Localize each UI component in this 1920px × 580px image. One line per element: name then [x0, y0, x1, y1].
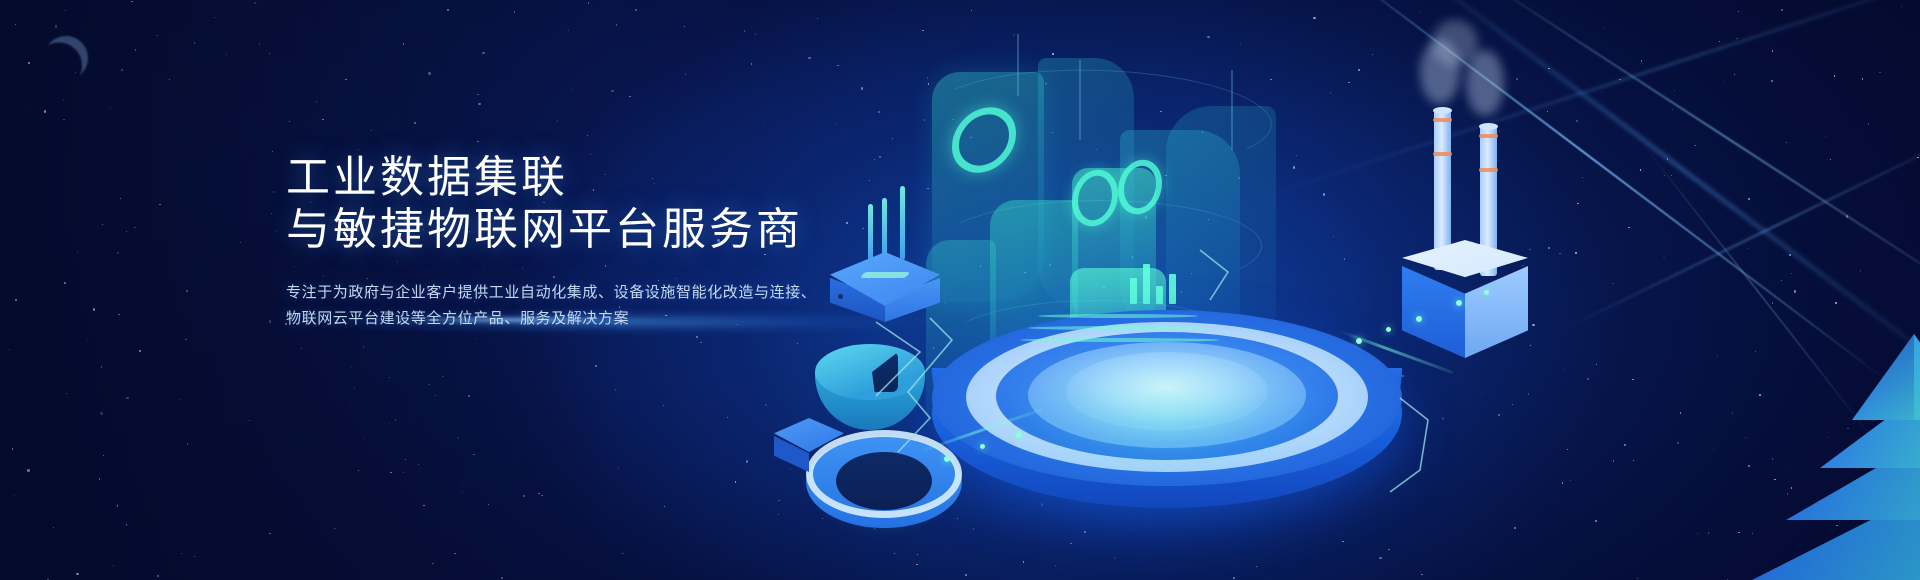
star [477, 141, 478, 142]
data-dot [1356, 338, 1362, 344]
isometric-illustration [780, 0, 1920, 580]
star [358, 149, 359, 150]
data-dot [1386, 327, 1391, 332]
star [44, 110, 46, 112]
star [94, 260, 95, 261]
star [103, 455, 104, 456]
star [744, 30, 745, 31]
star [12, 448, 13, 449]
star [14, 495, 15, 496]
star [462, 492, 463, 493]
star [364, 438, 365, 439]
star [126, 524, 127, 525]
star [428, 384, 429, 385]
star [99, 478, 100, 479]
star [28, 62, 29, 63]
star [120, 198, 121, 199]
star [488, 504, 489, 505]
star [405, 459, 406, 460]
star [473, 454, 474, 455]
star [664, 506, 665, 507]
star [194, 42, 195, 43]
star [87, 339, 88, 340]
star [110, 107, 111, 108]
star [316, 101, 317, 102]
star [63, 119, 64, 120]
star [538, 493, 539, 494]
star [275, 231, 276, 232]
star [15, 24, 16, 25]
star [363, 346, 364, 347]
star [595, 365, 596, 366]
star [102, 224, 103, 225]
star [370, 130, 371, 131]
star [27, 469, 29, 471]
star [358, 470, 359, 471]
star [93, 308, 95, 310]
star [395, 419, 396, 420]
star [134, 227, 135, 228]
star [301, 348, 302, 349]
cable-network [780, 0, 1920, 580]
star [418, 464, 419, 465]
star [589, 34, 590, 35]
star [194, 556, 195, 557]
star [126, 231, 127, 232]
star [259, 43, 260, 44]
star [616, 24, 617, 25]
star [187, 443, 188, 444]
star [482, 52, 484, 54]
star [289, 121, 290, 122]
star [454, 553, 455, 554]
star [447, 9, 448, 10]
star [622, 553, 623, 554]
star [462, 482, 463, 483]
star [351, 367, 352, 368]
star [478, 103, 480, 105]
data-dot [944, 456, 950, 462]
star [468, 395, 469, 396]
star [746, 460, 748, 462]
star [271, 213, 272, 214]
star [635, 9, 637, 11]
star [269, 53, 270, 54]
star [126, 397, 128, 399]
star [15, 299, 16, 300]
star [322, 119, 323, 120]
star [269, 533, 270, 534]
star [403, 472, 404, 473]
data-dot [1416, 316, 1422, 322]
star [403, 43, 404, 44]
star [727, 417, 728, 418]
star [55, 25, 57, 27]
star [118, 314, 119, 315]
star [435, 395, 436, 396]
star [240, 242, 241, 243]
star [77, 251, 78, 252]
star [117, 505, 118, 506]
star [611, 90, 613, 92]
star [29, 105, 30, 106]
star [143, 125, 144, 126]
star [618, 467, 619, 468]
star [523, 495, 524, 496]
hero-banner: 工业数据集联 与敏捷物联网平台服务商 专注于为政府与企业客户提供工业自动化集成、… [0, 0, 1920, 580]
star [345, 79, 346, 80]
star [501, 577, 502, 578]
star [390, 472, 391, 473]
star [389, 377, 390, 378]
star [389, 423, 390, 424]
star [157, 575, 159, 577]
data-dot [1016, 432, 1022, 438]
star [214, 17, 215, 18]
star [157, 35, 158, 36]
star [9, 349, 10, 350]
star [117, 252, 118, 253]
star [351, 406, 352, 407]
star [139, 350, 140, 351]
star [258, 1, 259, 2]
star [685, 74, 686, 75]
star [414, 122, 415, 123]
star [514, 11, 515, 12]
star [101, 366, 102, 367]
star [226, 54, 227, 55]
star [587, 135, 588, 136]
star [121, 69, 123, 71]
star [384, 148, 385, 149]
star [272, 151, 273, 152]
star [53, 527, 54, 528]
star [541, 495, 542, 496]
star [254, 2, 255, 3]
star [135, 49, 136, 50]
star [66, 393, 67, 394]
star [751, 63, 752, 64]
data-dot [1484, 290, 1489, 295]
star [615, 389, 616, 390]
star [272, 191, 274, 193]
star [571, 89, 572, 90]
star [684, 26, 685, 27]
data-dot [980, 444, 985, 449]
star [735, 481, 736, 482]
star [113, 565, 114, 566]
star [568, 30, 569, 31]
star [557, 120, 558, 121]
star [100, 412, 102, 414]
star [588, 2, 589, 3]
star [755, 33, 756, 34]
star [180, 399, 181, 400]
star [131, 1, 132, 2]
star [432, 563, 433, 564]
star [249, 420, 250, 421]
star [629, 96, 630, 97]
star [663, 405, 664, 406]
star [75, 72, 76, 73]
star [186, 290, 187, 291]
star [159, 204, 160, 205]
star [442, 376, 443, 377]
star [181, 553, 182, 554]
star [65, 10, 66, 11]
star [457, 437, 459, 439]
star [64, 282, 65, 283]
star [764, 124, 765, 125]
star [169, 79, 170, 80]
star [509, 575, 510, 576]
star [428, 72, 430, 74]
star [334, 528, 335, 529]
star [423, 505, 424, 506]
data-dot [1456, 300, 1462, 306]
star [477, 94, 478, 95]
star [354, 388, 355, 389]
star [765, 404, 766, 405]
star [76, 573, 78, 575]
star [63, 100, 64, 101]
